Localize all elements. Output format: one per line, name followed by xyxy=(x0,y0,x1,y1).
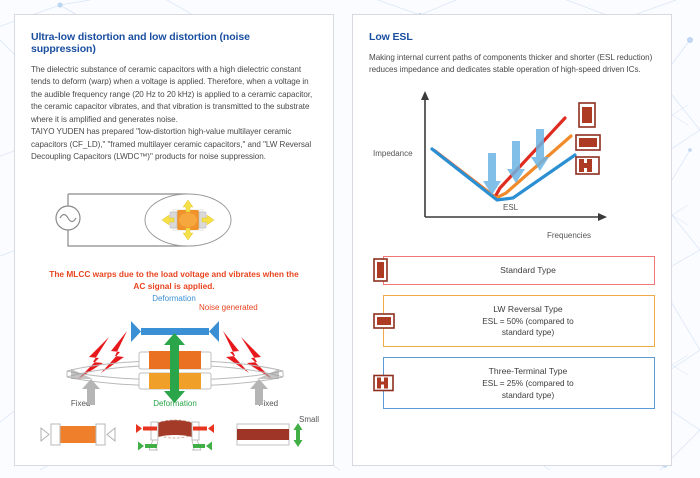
panel-low-esl: Low ESL Making internal current paths of… xyxy=(352,14,672,466)
series-three-terminal-type xyxy=(432,149,575,200)
left-panel-paragraph: The dielectric substance of ceramic capa… xyxy=(31,64,317,164)
caption-line-1: Vibration xyxy=(125,465,225,466)
page-root: Ultra-low distortion and low distortion … xyxy=(0,0,700,478)
legend-item-lw-reversal-type[interactable]: LW Reversal Type ESL = 50% (compared to … xyxy=(383,295,655,347)
noise-bolt-right xyxy=(223,331,272,379)
legend-subtitle-line-1: ESL = 50% (compared to xyxy=(410,316,646,328)
countermeasure-caption: Vibration absorption xyxy=(125,465,225,466)
legend-title: LW Reversal Type xyxy=(410,303,646,316)
circuit-diagram xyxy=(31,176,317,262)
chart-icon-standard-type xyxy=(579,103,595,127)
legend-subtitle-line-2: standard type) xyxy=(410,390,646,402)
chart-icon-lw-reversal-type xyxy=(576,135,600,150)
left-panel-red-headline: The MLCC warps due to the load voltage a… xyxy=(31,268,317,293)
legend-subtitle-line-1: ESL = 25% (compared to xyxy=(410,378,646,390)
countermeasure-vibration-absorption: Vibration absorption xyxy=(125,414,225,466)
chart-ylabel: Impedance xyxy=(373,149,413,158)
countermeasure-row: Low-distortion material xyxy=(31,414,317,466)
capacitor-three-terminal-icon xyxy=(373,375,394,392)
capacitor-horizontal-icon xyxy=(373,313,395,329)
legend-subtitle-line-2: standard type) xyxy=(410,327,646,339)
chart-icon-three-terminal-type xyxy=(576,157,599,174)
countermeasure-caption: Amplitude suppression xyxy=(225,465,319,466)
left-panel-heading: Ultra-low distortion and low distortion … xyxy=(31,31,317,55)
vibration-absorption-icon xyxy=(136,420,214,451)
countermeasure-low-distortion: Low-distortion material xyxy=(31,414,125,466)
capacitor-expansion-illustration xyxy=(145,194,231,246)
countermeasure-caption: Low-distortion material xyxy=(31,465,125,466)
legend-item-standard-type[interactable]: Standard Type xyxy=(383,256,655,285)
legend-list: Standard Type LW Reversal Type ESL = 50%… xyxy=(369,256,655,409)
label-deformation-top: Deformation xyxy=(31,294,317,303)
panel-noise-suppression: Ultra-low distortion and low distortion … xyxy=(14,14,334,466)
ac-source-icon xyxy=(56,206,80,230)
capacitor-vertical-icon xyxy=(373,258,388,282)
legend-title: Three-Terminal Type xyxy=(410,365,646,378)
impedance-frequency-chart: Impedance Frequencies ESL xyxy=(369,85,655,250)
vibration-illustration: Noise generated xyxy=(31,305,317,401)
label-small: Small xyxy=(299,415,319,424)
legend-item-three-terminal-type[interactable]: Three-Terminal Type ESL = 25% (compared … xyxy=(383,357,655,409)
caption-line-1: Amplitude xyxy=(225,465,319,466)
amplitude-suppression-icon xyxy=(237,423,303,447)
right-panel-heading: Low ESL xyxy=(369,31,655,43)
noise-bolt-left xyxy=(78,331,127,379)
legend-title: Standard Type xyxy=(410,264,646,277)
caption-line-1: Low-distortion xyxy=(31,465,125,466)
chart-xlabel: Frequencies xyxy=(547,231,591,240)
low-distortion-material-icon xyxy=(41,424,115,445)
right-panel-paragraph: Making internal current paths of compone… xyxy=(369,52,655,77)
chart-annotation-esl: ESL xyxy=(503,203,519,212)
small-amplitude-arrow xyxy=(294,423,303,447)
